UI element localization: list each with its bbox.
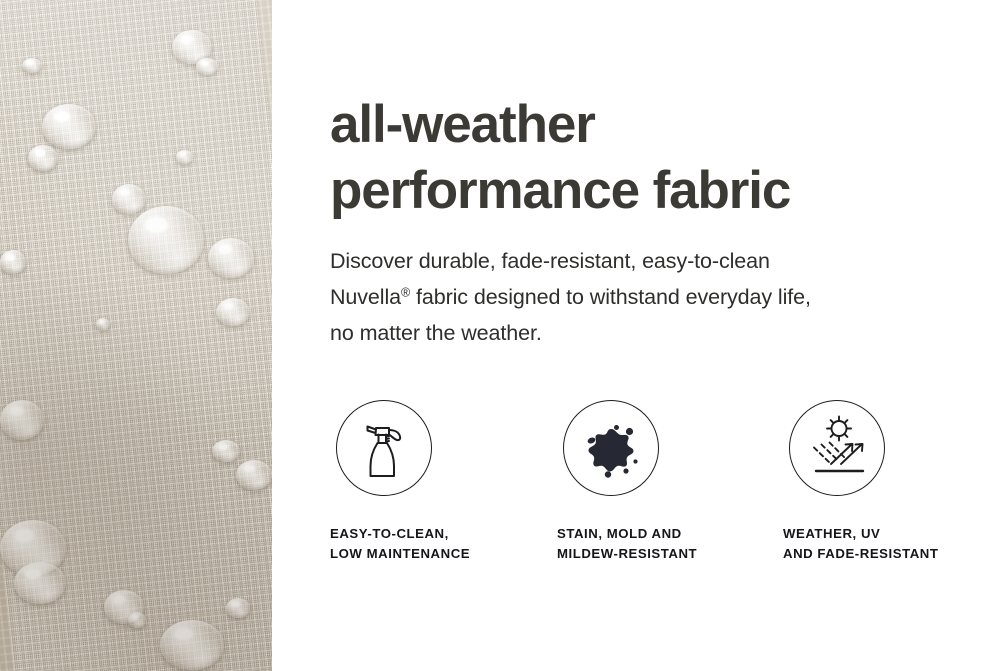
subcopy: Discover durable, fade-resistant, easy-t… <box>330 243 970 351</box>
feature-caption: WEATHER, UV AND FADE-RESISTANT <box>783 524 983 564</box>
subcopy-line-3: no matter the weather. <box>330 315 970 351</box>
headline-line-1: all-weather <box>330 92 990 158</box>
feature-caption: STAIN, MOLD AND MILDEW-RESISTANT <box>557 524 757 564</box>
spray-bottle-icon <box>336 400 432 496</box>
feature-caption-line-2: AND FADE-RESISTANT <box>783 544 983 564</box>
fabric-photo <box>0 0 272 671</box>
feature-easy-to-clean: EASY-TO-CLEAN, LOW MAINTENANCE <box>330 400 530 564</box>
fabric-feature-banner: all-weather performance fabric Discover … <box>0 0 1005 671</box>
feature-caption: EASY-TO-CLEAN, LOW MAINTENANCE <box>330 524 530 564</box>
page-title: all-weather performance fabric <box>330 92 990 224</box>
feature-caption-line-1: STAIN, MOLD AND <box>557 524 757 544</box>
headline-line-2: performance fabric <box>330 158 990 224</box>
feature-caption-line-2: MILDEW-RESISTANT <box>557 544 757 564</box>
feature-caption-line-1: EASY-TO-CLEAN, <box>330 524 530 544</box>
feature-weather-uv-resistant: WEATHER, UV AND FADE-RESISTANT <box>783 400 983 564</box>
subcopy-line-2: Nuvella® fabric designed to withstand ev… <box>330 279 970 315</box>
feature-stain-resistant: STAIN, MOLD AND MILDEW-RESISTANT <box>557 400 757 564</box>
brand-name: Nuvella <box>330 285 401 309</box>
subcopy-line-1: Discover durable, fade-resistant, easy-t… <box>330 243 970 279</box>
stain-splat-icon <box>563 400 659 496</box>
sun-uv-reflect-icon <box>789 400 885 496</box>
feature-caption-line-1: WEATHER, UV <box>783 524 983 544</box>
fabric-shading <box>0 0 272 671</box>
registered-mark: ® <box>401 285 410 299</box>
feature-caption-line-2: LOW MAINTENANCE <box>330 544 530 564</box>
content-column: all-weather performance fabric Discover … <box>330 0 990 671</box>
subcopy-line-2-rest: fabric designed to withstand everyday li… <box>410 285 811 309</box>
